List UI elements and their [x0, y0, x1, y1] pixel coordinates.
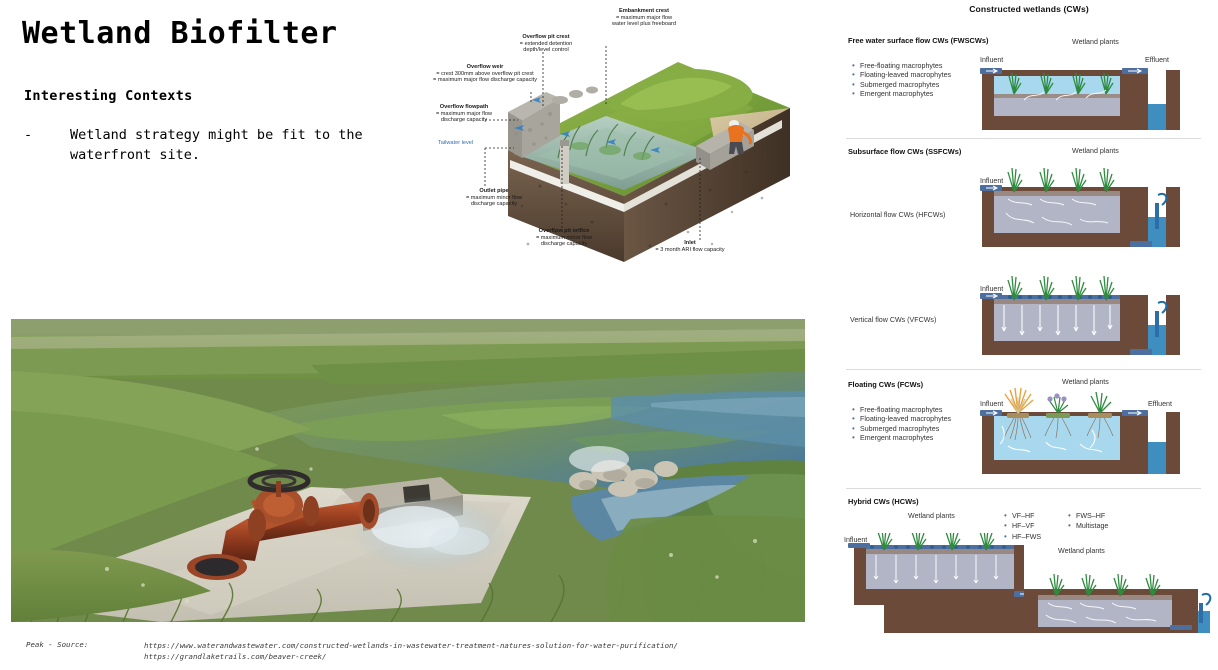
- cw-label-wetland-plants: Wetland plants: [1062, 378, 1109, 386]
- citation-label: Peak - Source:: [26, 640, 144, 663]
- citation-url: https://www.waterandwastewater.com/const…: [144, 640, 678, 651]
- cw-head-hcw: Hybrid CWs (HCWs): [848, 497, 919, 506]
- list-item: HF–VF: [1004, 521, 1068, 531]
- cw-section-fcw: Floating CWs (FCWs) Free-floating macrop…: [840, 370, 1218, 488]
- source-citation: Peak - Source: https://www.waterandwaste…: [26, 640, 678, 663]
- bullet-text: Wetland strategy might be fit to the wat…: [70, 126, 390, 165]
- cw-section-fwscw: Free water surface flow CWs (FWSCWs) Fre…: [840, 20, 1218, 138]
- label-embankment-crest: Embankment crest = maximum major flow wa…: [594, 8, 694, 28]
- label-overflow-flowpath: Overflow flowpath = maximum major flow d…: [414, 104, 514, 124]
- cw-head-fwscw: Free water surface flow CWs (FWSCWs): [848, 36, 988, 45]
- cw-label-wetland-plants: Wetland plants: [1072, 38, 1119, 46]
- list-item: Emergent macrophytes: [852, 434, 972, 443]
- label-overflow-pit-orifice: Overflow pit orifice = maximum minor flo…: [514, 228, 614, 248]
- cw-hybrid-types-col2: FWS–HF Multistage: [1068, 511, 1148, 532]
- list-item: Free-floating macrophytes: [852, 406, 972, 415]
- wetland-outfall-photo: [11, 319, 805, 622]
- label-outlet-pipe: Outlet pipe = maximum minor flow dischar…: [446, 188, 542, 208]
- label-inlet: Inlet = 3 month ARI flow capacity: [632, 240, 748, 253]
- cw-sublabel-hfcw: Horizontal flow CWs (HFCWs): [850, 211, 945, 219]
- list-item: Floating-leaved macrophytes: [852, 415, 972, 424]
- cw-diagram-vfcw: [980, 269, 1215, 359]
- list-item: Submerged macrophytes: [852, 425, 972, 434]
- label-tailwater-level: Tailwater level: [438, 140, 518, 147]
- cw-diagram-hfcw: [980, 161, 1215, 251]
- cw-diagram-fcw: [980, 386, 1215, 482]
- cw-diagram-fwscw: [980, 64, 1210, 136]
- cw-head-ssfcw: Subsurface flow CWs (SSFCWs): [848, 147, 961, 156]
- cw-head-fcw: Floating CWs (FCWs): [848, 380, 923, 389]
- list-item: Multistage: [1068, 521, 1148, 531]
- label-overflow-weir: Overflow weir = crest 300mm above overfl…: [410, 64, 560, 84]
- list-item: FWS–HF: [1068, 511, 1148, 521]
- cw-sublabel-vfcw: Vertical flow CWs (VFCWs): [850, 316, 936, 324]
- cw-diagram-hcw: [848, 533, 1216, 637]
- cw-label-wetland-plants: Wetland plants: [908, 512, 955, 520]
- list-item: Submerged macrophytes: [852, 81, 972, 90]
- citation-urls: https://www.waterandwastewater.com/const…: [144, 640, 678, 663]
- citation-url: https://grandlaketrails.com/beaver-creek…: [144, 651, 678, 662]
- page-title: Wetland Biofilter: [22, 16, 338, 51]
- cw-macrophyte-list-fwscw: Free-floating macrophytes Floating-leave…: [852, 62, 972, 99]
- cw-macrophyte-list-fcw: Free-floating macrophytes Floating-leave…: [852, 406, 972, 443]
- cw-label-effluent: Effluent: [1145, 56, 1169, 64]
- bullet-list-item: - Wetland strategy might be fit to the w…: [24, 126, 404, 165]
- cw-figure-title: Constructed wetlands (CWs): [840, 4, 1218, 14]
- list-item: Emergent macrophytes: [852, 90, 972, 99]
- constructed-wetlands-figure: Constructed wetlands (CWs) Free water su…: [840, 0, 1218, 630]
- list-item: Free-floating macrophytes: [852, 62, 972, 71]
- cw-label-wetland-plants: Wetland plants: [1072, 147, 1119, 155]
- embankment-biofilter-diagram: Embankment crest = maximum major flow wa…: [410, 0, 830, 285]
- list-item: VF–HF: [1004, 511, 1068, 521]
- bullet-marker: -: [24, 126, 70, 165]
- cw-section-hcw: Hybrid CWs (HCWs) Wetland plants VF–HF H…: [840, 489, 1218, 639]
- label-overflow-pit-crest: Overflow pit crest = extended detention …: [500, 34, 592, 54]
- section-heading: Interesting Contexts: [24, 88, 193, 104]
- list-item: Floating-leaved macrophytes: [852, 71, 972, 80]
- cw-section-ssfcw: Subsurface flow CWs (SSFCWs) Wetland pla…: [840, 139, 1218, 369]
- cw-label-influent: Influent: [980, 56, 1003, 64]
